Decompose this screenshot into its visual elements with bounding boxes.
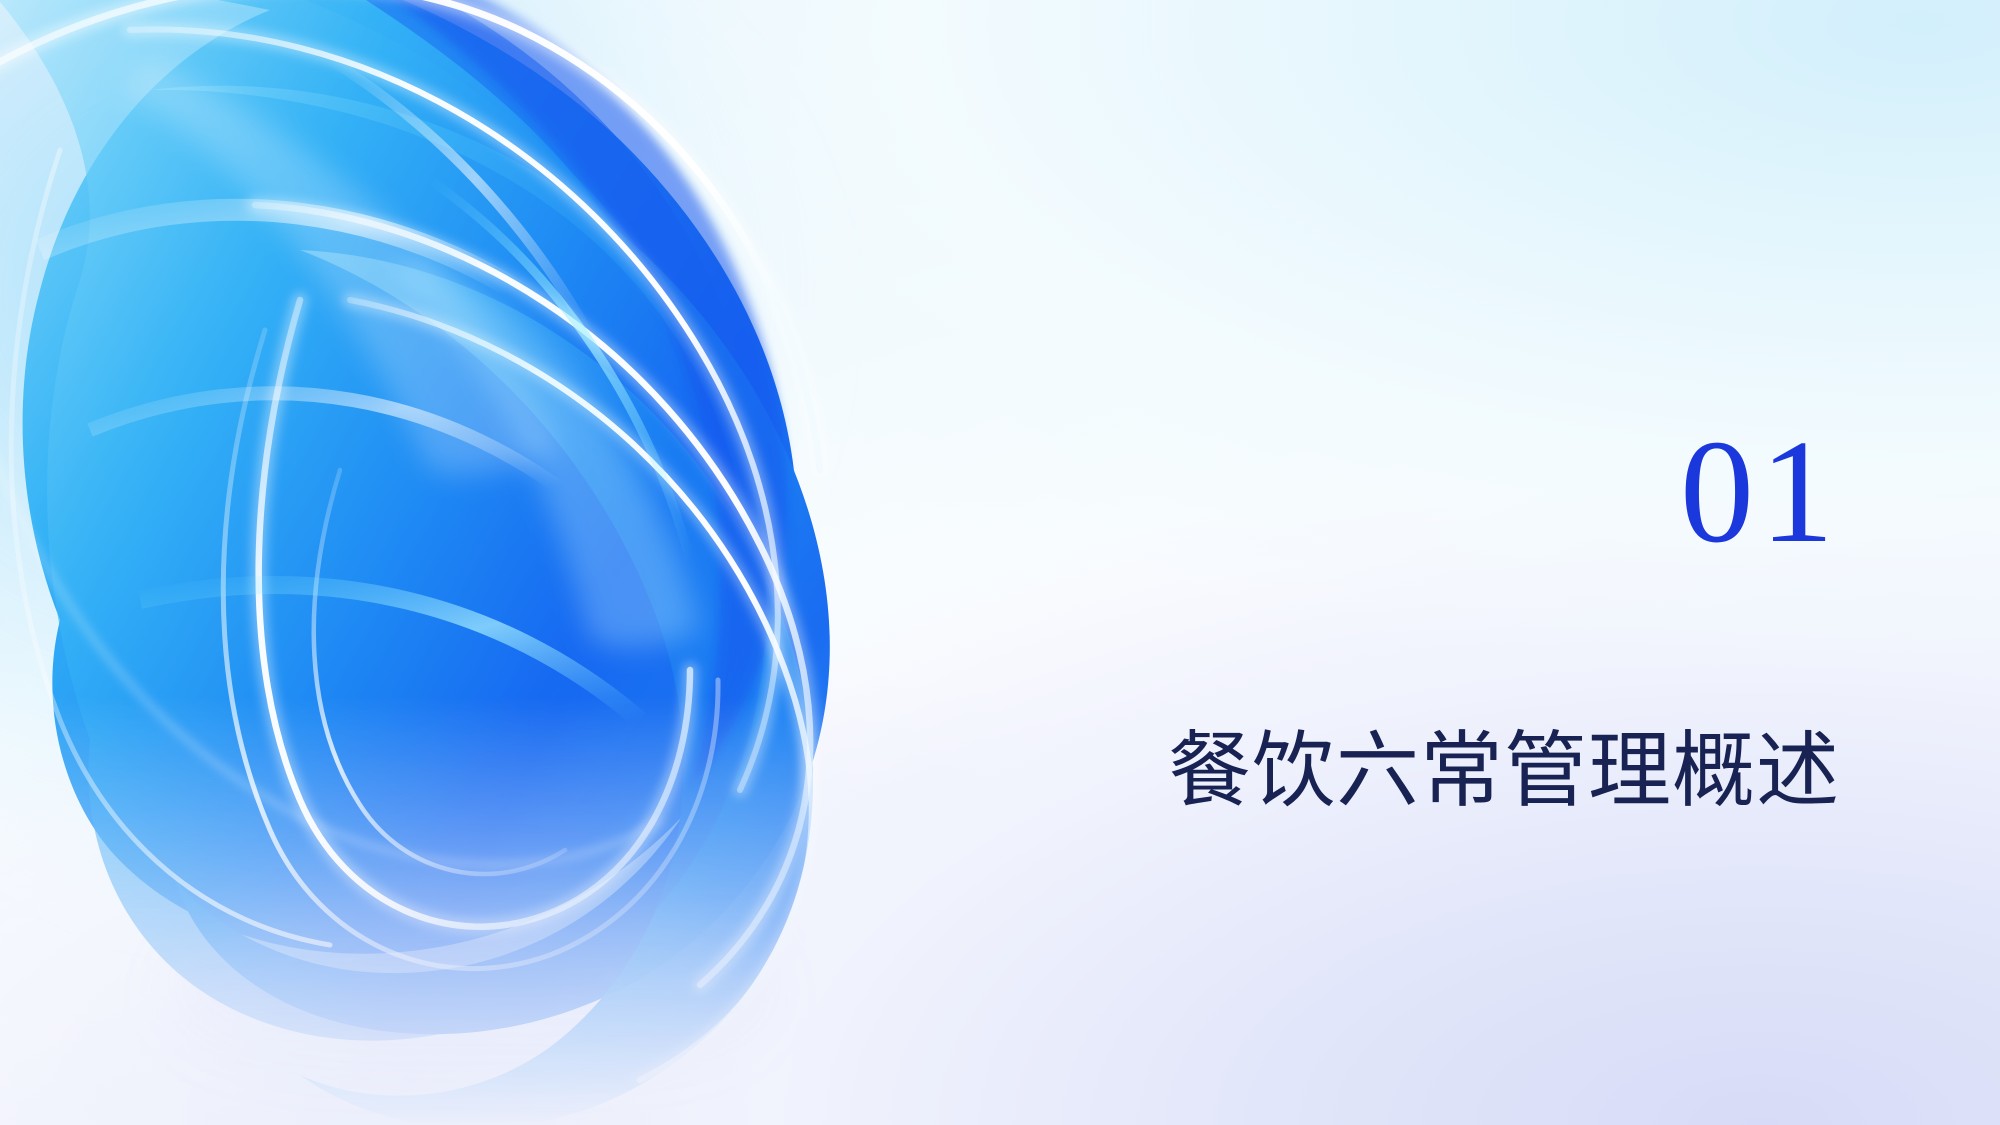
glass-streak-1	[40, 210, 560, 320]
glass-light-band	[120, 60, 560, 474]
slide-canvas: 01 餐饮六常管理概述	[0, 0, 2000, 1125]
ribbon-coil-middle	[150, 86, 830, 1035]
spiral-ribbon-group	[0, 0, 830, 1125]
ribbon-coil-front	[300, 250, 813, 1125]
glass-streak-3	[140, 585, 640, 720]
ribbon-deep-shade	[300, 0, 787, 790]
ribbon-coil-outer-shade	[250, 0, 759, 915]
ribbon-petal-pale-outer	[214, 342, 801, 1015]
abstract-glass-spiral-graphic	[0, 0, 980, 1125]
rim-light-top	[0, 0, 820, 470]
rim-light-spiral-tip-inner	[223, 330, 718, 969]
glass-streak-4	[330, 60, 630, 420]
ribbon-core-volume	[0, 0, 766, 1041]
rim-light-left-edge	[11, 150, 330, 945]
rim-light-far-left-arc	[0, 380, 660, 865]
glass-streak-5	[430, 180, 690, 560]
ribbon-petal-pale-inner	[300, 511, 705, 1011]
artwork-halo	[0, 0, 850, 940]
glass-light-band-2	[390, 250, 700, 647]
rim-light-coil-1-soft	[130, 29, 778, 790]
rim-light-coil-1	[130, 29, 778, 790]
glass-streak-2	[90, 393, 600, 520]
rim-light-coil-2-soft	[255, 205, 810, 985]
artwork-soft-shadow	[170, 880, 770, 1120]
rim-light-top-soft	[0, 0, 820, 470]
section-number: 01	[1000, 418, 1840, 566]
page-title: 餐饮六常管理概述	[1000, 728, 1840, 815]
rim-light-coil-3	[350, 300, 812, 1080]
rim-light-coil-3-soft	[350, 300, 812, 1080]
spiral-ribbon-svg	[0, 0, 980, 1125]
rim-light-spiral-tip-outer	[259, 300, 690, 927]
rim-light-spiral-tip-outer-soft	[259, 300, 690, 927]
ribbon-coil-outer	[0, 0, 797, 954]
rim-light-inner-curl	[314, 470, 565, 874]
section-divider-content: 01 餐饮六常管理概述	[1000, 0, 2000, 1125]
rim-light-coil-2	[255, 205, 810, 985]
